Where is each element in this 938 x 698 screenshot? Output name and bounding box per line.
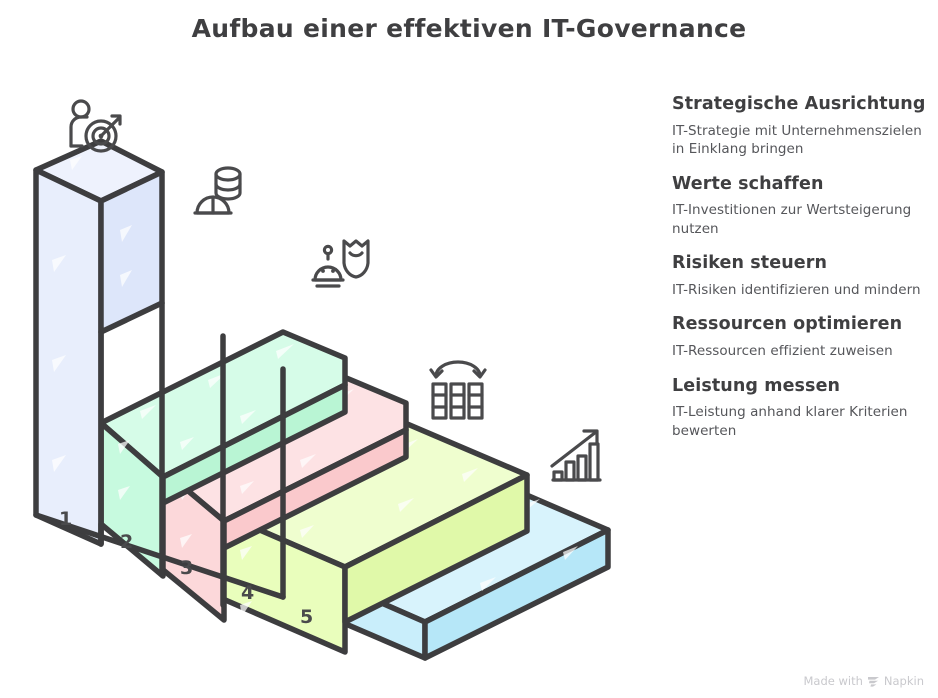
step-4-number: 4 bbox=[241, 582, 254, 604]
legend-title-2: Werte schaffen bbox=[672, 172, 932, 197]
robot-shield-icon bbox=[313, 241, 368, 286]
watermark: Made with Napkin bbox=[804, 674, 925, 688]
hardhat-database-icon bbox=[195, 168, 240, 213]
server-racks-refresh-icon bbox=[431, 362, 485, 418]
legend-desc-4: IT-Ressourcen effizient zuweisen bbox=[672, 342, 932, 360]
legend-item-2: Werte schaffen IT-Investitionen zur Wert… bbox=[672, 172, 932, 239]
legend-desc-5: IT-Leistung anhand klarer Kriterien bewe… bbox=[672, 403, 932, 440]
legend-title-5: Leistung messen bbox=[672, 374, 932, 399]
step-1-number: 1 bbox=[59, 508, 72, 530]
isometric-staircase-diagram: 1 2 3 4 5 bbox=[0, 60, 680, 680]
legend-list: Strategische Ausrichtung IT-Strategie mi… bbox=[672, 92, 932, 453]
growth-bar-chart-icon bbox=[552, 431, 600, 480]
step-3-number: 3 bbox=[180, 557, 193, 579]
legend-item-5: Leistung messen IT-Leistung anhand klare… bbox=[672, 374, 932, 441]
watermark-brand: Napkin bbox=[884, 674, 924, 688]
legend-title-3: Risiken steuern bbox=[672, 251, 932, 276]
legend-item-4: Ressourcen optimieren IT-Ressourcen effi… bbox=[672, 312, 932, 360]
legend-desc-3: IT-Risiken identifizieren und mindern bbox=[672, 281, 932, 299]
step-2-number: 2 bbox=[120, 531, 133, 553]
legend-item-3: Risiken steuern IT-Risiken identifiziere… bbox=[672, 251, 932, 299]
legend-item-1: Strategische Ausrichtung IT-Strategie mi… bbox=[672, 92, 932, 159]
page-title: Aufbau einer effektiven IT-Governance bbox=[0, 14, 938, 43]
person-target-icon bbox=[71, 101, 120, 151]
watermark-text: Made with bbox=[804, 674, 863, 688]
legend-desc-2: IT-Investitionen zur Wertsteigerung nutz… bbox=[672, 201, 932, 238]
legend-title-4: Ressourcen optimieren bbox=[672, 312, 932, 337]
legend-desc-1: IT-Strategie mit Unternehmenszielen in E… bbox=[672, 122, 932, 159]
napkin-logo-icon bbox=[867, 676, 880, 687]
step-5-number: 5 bbox=[300, 606, 313, 628]
legend-title-1: Strategische Ausrichtung bbox=[672, 92, 932, 117]
infographic-page: Aufbau einer effektiven IT-Governance bbox=[0, 0, 938, 698]
